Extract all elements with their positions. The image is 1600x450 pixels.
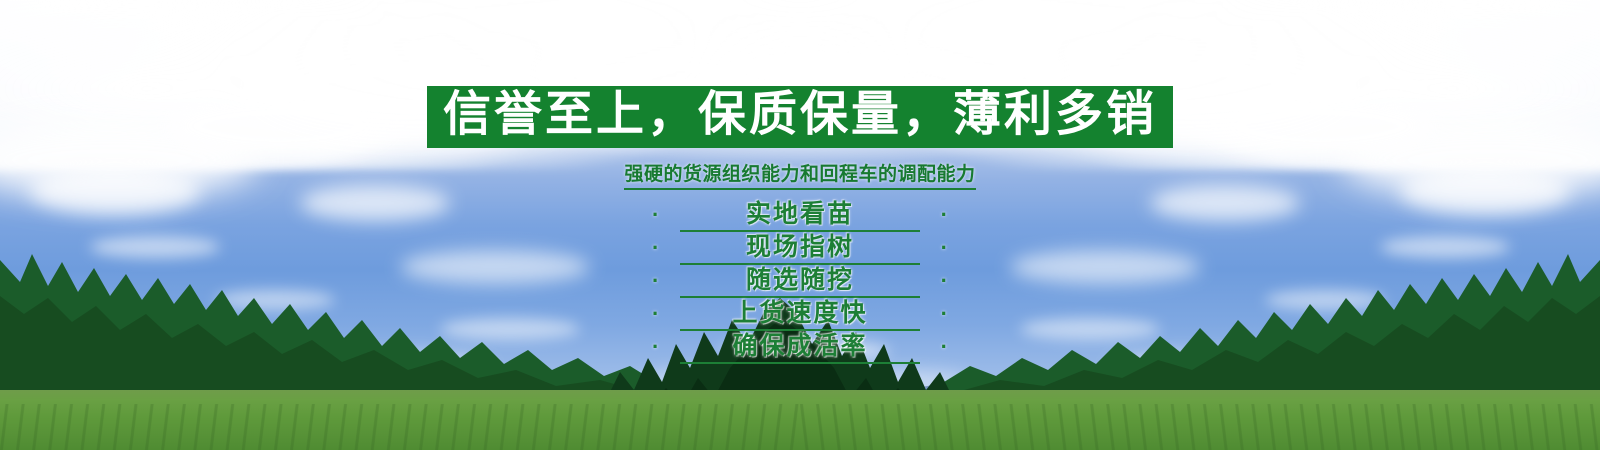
bullet-dot-left-icon: · (652, 199, 659, 230)
feature-label: 实地看苗 (746, 200, 854, 228)
feature-label: 确保成活率 (732, 332, 867, 360)
feature-label: 上货速度快 (732, 299, 867, 327)
crop-rows-right (800, 404, 1600, 450)
promo-banner: 信誉至上，保质保量，薄利多销 强硬的货源组织能力和回程车的调配能力 · 实地看苗… (0, 0, 1600, 450)
bullet-dot-left-icon: · (652, 331, 659, 362)
bullet-dot-right-icon: · (941, 265, 948, 296)
bullet-dot-right-icon: · (941, 199, 948, 230)
feature-item: · 上货速度快 · (680, 298, 920, 331)
headline-text: 信誉至上，保质保量，薄利多销 (443, 90, 1157, 140)
feature-item: · 确保成活率 · (680, 331, 920, 364)
banner-content: 信誉至上，保质保量，薄利多销 强硬的货源组织能力和回程车的调配能力 · 实地看苗… (0, 0, 1600, 364)
feature-item: · 现场指树 · (680, 232, 920, 265)
bullet-dot-left-icon: · (652, 265, 659, 296)
feature-item: · 实地看苗 · (680, 199, 920, 232)
bullet-dot-right-icon: · (941, 298, 948, 329)
bullet-dot-left-icon: · (652, 232, 659, 263)
headline-bar: 信誉至上，保质保量，薄利多销 (427, 86, 1173, 148)
feature-label: 现场指树 (746, 233, 854, 261)
crop-field (0, 390, 1600, 450)
bullet-dot-right-icon: · (941, 232, 948, 263)
crop-rows-left (0, 404, 800, 450)
feature-list: · 实地看苗 · · 现场指树 · · 随选随挖 · · 上货速度快 · · 确 (680, 199, 920, 364)
bullet-dot-right-icon: · (941, 331, 948, 362)
feature-item: · 随选随挖 · (680, 265, 920, 298)
bullet-dot-left-icon: · (652, 298, 659, 329)
feature-label: 随选随挖 (746, 266, 854, 294)
subtitle-text: 强硬的货源组织能力和回程车的调配能力 (624, 159, 975, 190)
